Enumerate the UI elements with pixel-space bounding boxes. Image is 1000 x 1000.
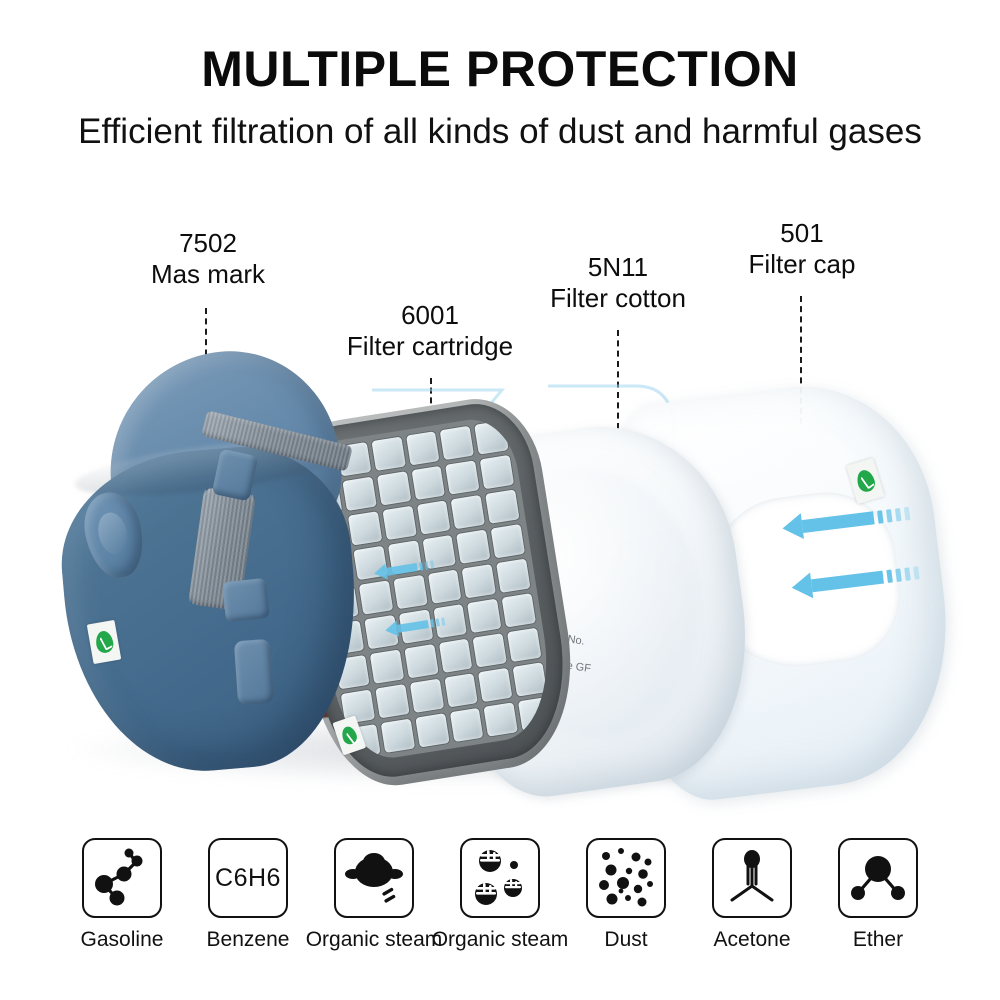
strap-buckle-bottom <box>234 639 274 705</box>
arrow-tail <box>386 563 418 576</box>
callout-7502-name: Mas mark <box>118 259 298 290</box>
arrow-dashes <box>877 506 910 523</box>
protection-item-ether[interactable]: Ether <box>835 838 921 952</box>
vapor-cloud-icon <box>336 840 412 916</box>
strap-buckle-mid <box>222 578 270 622</box>
vapor-droplets-icon <box>462 840 538 916</box>
product-photo: NIOSH No. Mask Side GF <box>0 330 1000 830</box>
arrow-tail <box>811 570 884 592</box>
infographic-canvas: MULTIPLE PROTECTION Efficient filtration… <box>0 0 1000 1000</box>
leaf-icon <box>854 468 877 494</box>
callout-7502: 7502 Mas mark <box>118 228 298 289</box>
protection-icon-row: Gasoline C6H6 Benzene <box>0 838 1000 978</box>
dust-particles-icon <box>588 840 664 916</box>
organic-steam-cloud-icon-box <box>334 838 414 918</box>
acetone-icon-box <box>712 838 792 918</box>
protection-item-organic-steam-droplets[interactable]: Organic steam <box>457 838 543 952</box>
protection-item-gasoline[interactable]: Gasoline <box>79 838 165 952</box>
protection-label: Organic steam <box>432 928 569 952</box>
callout-5n11-code: 5N11 <box>523 252 713 283</box>
page-subtitle: Efficient filtration of all kinds of dus… <box>0 112 1000 152</box>
molecule-branched-icon <box>84 840 160 916</box>
arrow-head-icon <box>781 513 804 541</box>
protection-label: Dust <box>604 928 647 952</box>
protection-label: Organic steam <box>306 928 443 952</box>
protection-label: Acetone <box>713 928 790 952</box>
callout-5n11-name: Filter cotton <box>523 283 713 314</box>
dust-icon-box <box>586 838 666 918</box>
organic-steam-droplets-icon-box <box>460 838 540 918</box>
arrow-dashes <box>430 617 445 627</box>
benzene-icon-box: C6H6 <box>208 838 288 918</box>
arrow-dashes <box>419 560 434 570</box>
protection-item-organic-steam-cloud[interactable]: Organic steam <box>331 838 417 952</box>
arrow-tail <box>397 620 429 633</box>
protection-label: Benzene <box>207 928 290 952</box>
callout-5n11: 5N11 Filter cotton <box>523 252 713 313</box>
page-title: MULTIPLE PROTECTION <box>0 40 1000 98</box>
callout-501: 501 Filter cap <box>707 218 897 279</box>
ether-icon-box <box>838 838 918 918</box>
callout-6001-code: 6001 <box>330 300 530 331</box>
protection-item-dust[interactable]: Dust <box>583 838 669 952</box>
callout-7502-code: 7502 <box>118 228 298 259</box>
protection-item-benzene[interactable]: C6H6 Benzene <box>205 838 291 952</box>
arrow-tail <box>802 511 875 533</box>
arrow-head-icon <box>790 572 813 600</box>
callout-501-code: 501 <box>707 218 897 249</box>
ether-molecule-icon <box>840 840 916 916</box>
leaf-icon <box>94 630 115 655</box>
c6h6-text-icon: C6H6 <box>210 840 286 916</box>
gasoline-icon-box <box>82 838 162 918</box>
acetone-tripod-icon <box>714 840 790 916</box>
callout-501-name: Filter cap <box>707 249 897 280</box>
half-mask-7502 <box>30 340 390 790</box>
arrow-dashes <box>886 566 919 583</box>
protection-label: Gasoline <box>81 928 164 952</box>
protection-label: Ether <box>853 928 903 952</box>
protection-item-acetone[interactable]: Acetone <box>709 838 795 952</box>
